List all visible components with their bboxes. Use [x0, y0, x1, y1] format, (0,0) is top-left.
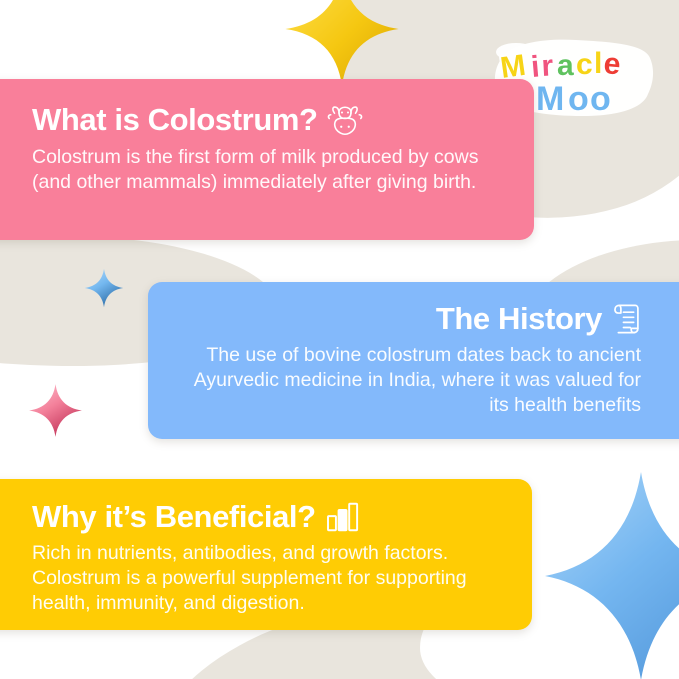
infographic-canvas: M i r a c l e M o o What is Colostrum?: [0, 0, 679, 679]
svg-text:e: e: [602, 47, 622, 81]
card-the-history: The History The use of bovine colostrum …: [148, 282, 679, 439]
card-title-text: The History: [436, 303, 602, 335]
card-title-text: Why it’s Beneficial?: [32, 501, 316, 533]
card-title-why-its-beneficial: Why it’s Beneficial?: [32, 501, 508, 533]
card-body-what-is-colostrum: Colostrum is the first form of milk prod…: [32, 145, 510, 195]
star-pink-small-icon: [28, 383, 83, 438]
card-body-why-its-beneficial: Rich in nutrients, antibodies, and growt…: [32, 541, 508, 616]
svg-text:l: l: [594, 47, 602, 80]
card-body-the-history: The use of bovine colostrum dates back t…: [174, 343, 641, 418]
card-title-text: What is Colostrum?: [32, 104, 318, 136]
card-what-is-colostrum: What is Colostrum? Colostrum is the firs…: [0, 79, 534, 240]
bar-chart-icon: [325, 502, 361, 532]
star-blue-large-icon: [541, 466, 679, 679]
svg-text:o: o: [568, 80, 589, 118]
card-title-the-history: The History: [174, 302, 641, 336]
star-yellow-top-icon: [283, 0, 401, 88]
svg-text:r: r: [541, 49, 555, 83]
svg-text:a: a: [557, 49, 574, 82]
cow-face-icon: [327, 104, 363, 136]
svg-text:c: c: [576, 48, 593, 81]
card-why-its-beneficial: Why it’s Beneficial? Rich in nutrients, …: [0, 479, 532, 630]
scroll-icon: [611, 302, 641, 336]
svg-text:o: o: [590, 80, 611, 118]
svg-text:M: M: [536, 80, 564, 118]
card-title-what-is-colostrum: What is Colostrum?: [32, 104, 510, 136]
star-blue-small-icon: [84, 268, 124, 308]
